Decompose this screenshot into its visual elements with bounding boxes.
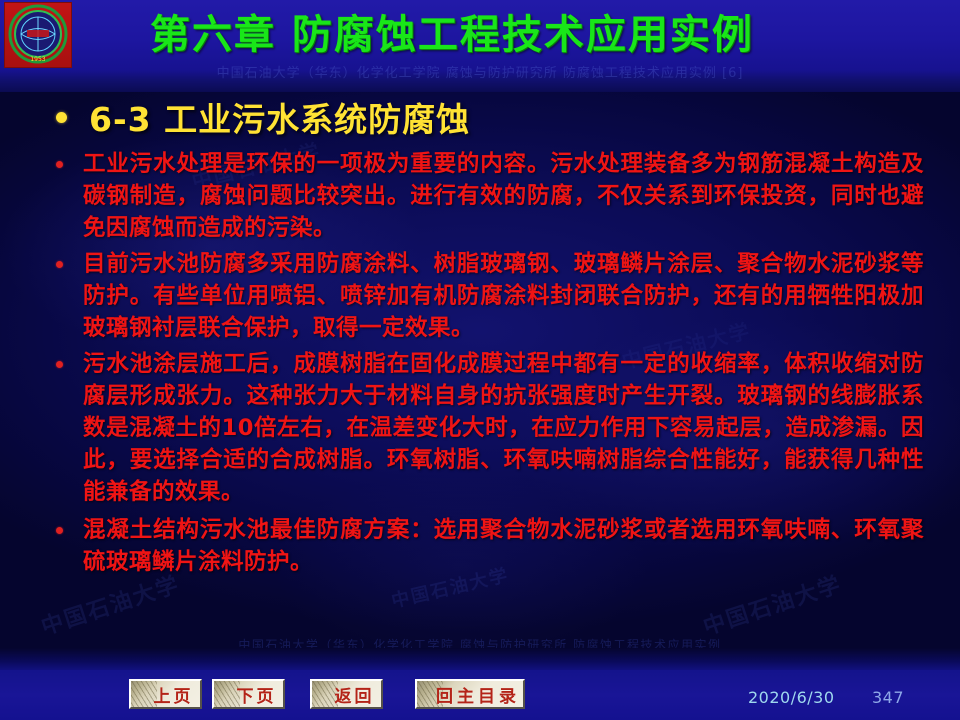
university-emblem-logo: 1953 (4, 2, 72, 68)
section-heading: 6-3 工业污水系统防腐蚀 (56, 92, 916, 142)
slide-date: 2020/6/30 (748, 688, 835, 707)
return-label: 返回 (319, 682, 375, 707)
main-menu-label: 回主目录 (420, 682, 520, 707)
section-bullet-icon (56, 112, 67, 123)
main-menu-button[interactable]: 回主目录 (415, 679, 525, 709)
next-page-label: 下页 (221, 682, 277, 707)
paragraph-bullet-icon (56, 161, 63, 168)
presentation-slide: 中国石油大学 中国石油大学 中国石油大学 中国石油大学 中国石油大学 中国石油大… (0, 0, 960, 720)
paragraph-bullet-icon (56, 361, 63, 368)
paragraph-text: 目前污水池防腐多采用防腐涂料、树脂玻璃钢、玻璃鳞片涂层、聚合物水泥砂浆等防护。有… (83, 248, 924, 344)
footer-fade (0, 648, 960, 672)
content-paragraph: 污水池涂层施工后，成膜树脂在固化成膜过程中都有一定的收缩率，体积收缩对防腐层形成… (56, 348, 924, 508)
previous-page-button[interactable]: 上页 (129, 679, 202, 709)
svg-text:1953: 1953 (30, 56, 45, 63)
paragraph-bullet-icon (56, 527, 63, 534)
previous-page-label: 上页 (138, 682, 194, 707)
slide-page-number: 347 (872, 688, 904, 707)
return-button[interactable]: 返回 (310, 679, 383, 709)
emblem-svg: 1953 (5, 3, 71, 67)
content-paragraph: 工业污水处理是环保的一项极为重要的内容。污水处理装备多为钢筋混凝土构造及碳钢制造… (56, 148, 924, 244)
paragraph-text: 污水池涂层施工后，成膜树脂在固化成膜过程中都有一定的收缩率，体积收缩对防腐层形成… (83, 348, 924, 508)
section-title-text: 6-3 工业污水系统防腐蚀 (89, 93, 470, 141)
paragraph-bullet-icon (56, 261, 63, 268)
paragraph-text: 工业污水处理是环保的一项极为重要的内容。污水处理装备多为钢筋混凝土构造及碳钢制造… (83, 148, 924, 244)
header-watermark: 中国石油大学（华东）化学化工学院 腐蚀与防护研究所 防腐蚀工程技术应用实例 [6… (0, 62, 960, 88)
chapter-title: 第六章 防腐蚀工程技术应用实例 (150, 6, 950, 64)
content-paragraph: 目前污水池防腐多采用防腐涂料、树脂玻璃钢、玻璃鳞片涂层、聚合物水泥砂浆等防护。有… (56, 248, 924, 344)
next-page-button[interactable]: 下页 (212, 679, 285, 709)
paragraph-text: 混凝土结构污水池最佳防腐方案：选用聚合物水泥砂浆或者选用环氧呋喃、环氧聚硫玻璃鳞… (83, 514, 924, 578)
content-paragraph: 混凝土结构污水池最佳防腐方案：选用聚合物水泥砂浆或者选用环氧呋喃、环氧聚硫玻璃鳞… (56, 514, 924, 578)
